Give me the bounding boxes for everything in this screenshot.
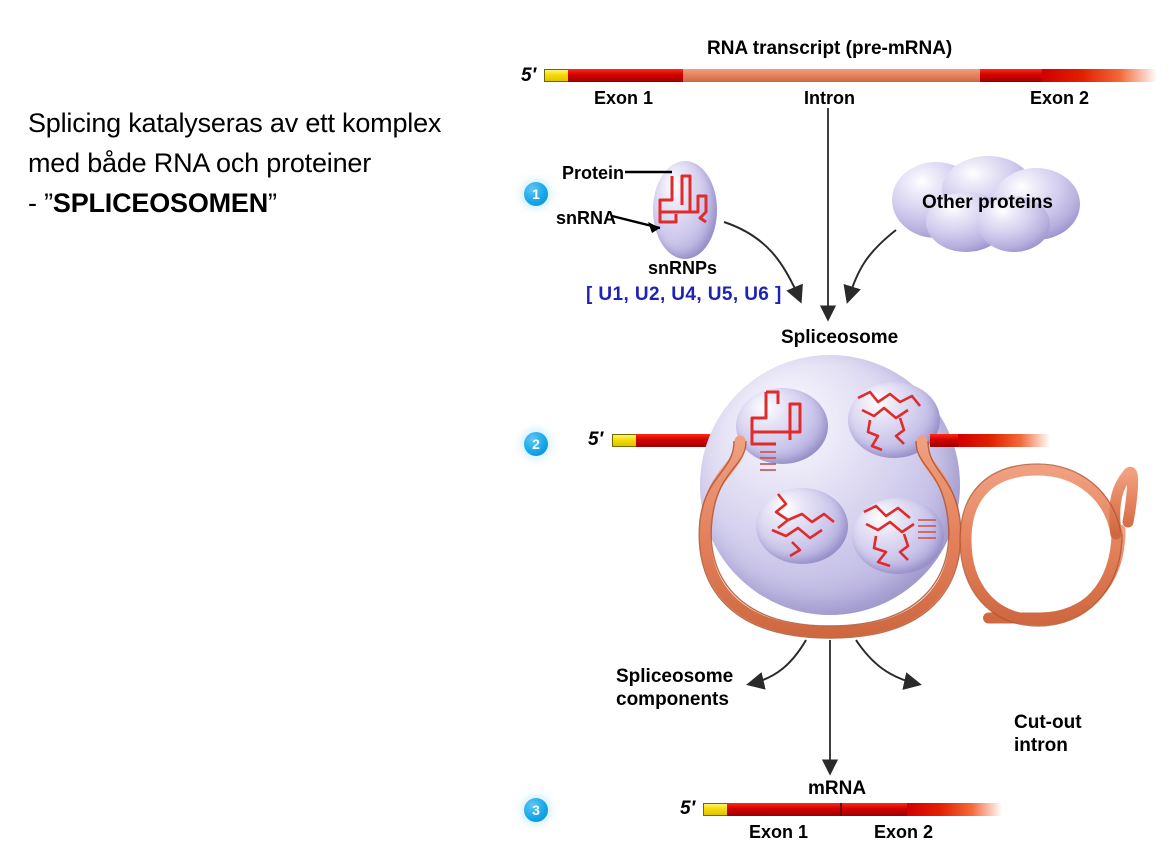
five-prime-label-top: 5′	[521, 65, 536, 87]
five-prime-cap-top	[544, 69, 570, 82]
mrna-exon-bar-fade-step3	[907, 803, 1002, 816]
slide-text-line-3-bold: SPLICEOSOMEN	[53, 188, 268, 218]
exon2-bar-top	[980, 69, 1042, 82]
slide-body-text: Splicing katalyseras av ett komplex med …	[28, 103, 498, 223]
exon2-bar-fade-top	[1042, 69, 1157, 82]
mrna-label: mRNA	[808, 778, 866, 800]
slide-text-line-3-suffix: ”	[268, 188, 277, 218]
slide-text-line-2: med både RNA och proteiner	[28, 143, 498, 183]
exon1-bar-top	[568, 69, 683, 82]
intron-bar-top	[683, 69, 980, 82]
mrna-exon-bar-step3	[727, 803, 907, 816]
exon-junction-mark	[840, 803, 842, 816]
cutout-intron-outline	[960, 464, 1122, 626]
slide-canvas: Splicing katalyseras av ett komplex med …	[0, 0, 1174, 868]
pre-mrna-title: RNA transcript (pre-mRNA)	[707, 38, 952, 60]
step-3-badge: 3	[524, 798, 548, 822]
exon2-bar-step2	[930, 434, 958, 447]
snrnps-label: snRNPs	[648, 258, 717, 279]
arrow-to-spliceosome-components	[750, 640, 806, 684]
step-2-badge: 2	[524, 432, 548, 456]
spliceosome-label: Spliceosome	[781, 327, 898, 349]
exon1-label-step3: Exon 1	[749, 822, 808, 843]
step-1-badge: 1	[524, 182, 548, 206]
snrna-label: snRNA	[556, 208, 616, 229]
exon2-label-top: Exon 2	[1030, 88, 1089, 109]
snrnp-particle	[653, 161, 717, 259]
spliceosome-snrnp-2	[848, 382, 940, 458]
cutout-intron-lariat	[966, 470, 1133, 620]
exon2-label-step3: Exon 2	[874, 822, 933, 843]
slide-text-line-1: Splicing katalyseras av ett komplex	[28, 103, 498, 143]
exon2-bar-fade-step2	[958, 434, 1050, 447]
cutout-intron-label-line1: Cut-out	[1014, 712, 1082, 734]
snrnp-u-list: [ U1, U2, U4, U5, U6 ]	[586, 284, 782, 306]
five-prime-label-step2: 5′	[588, 429, 603, 451]
spliceosome-components-label-line1: Spliceosome	[616, 666, 733, 688]
five-prime-label-step3: 5′	[680, 798, 695, 820]
exon1-label-top: Exon 1	[594, 88, 653, 109]
intron-label-top: Intron	[804, 88, 855, 109]
other-proteins-label: Other proteins	[922, 192, 1053, 214]
protein-label: Protein	[562, 163, 624, 184]
five-prime-cap-step2	[612, 434, 638, 447]
slide-text-line-3-prefix: - ”	[28, 188, 53, 218]
five-prime-cap-step3	[703, 803, 729, 816]
arrow-to-cutout-intron	[856, 640, 918, 684]
cutout-intron-label-line2: intron	[1014, 735, 1068, 757]
spliceosome-components-label-line2: components	[616, 689, 729, 711]
spliceosome-snrnp-1	[736, 388, 828, 464]
spliceosome-snrnp-3	[756, 488, 848, 564]
slide-text-line-3: - ”SPLICEOSOMEN”	[28, 183, 498, 223]
spliceosome-snrnp-4	[852, 498, 944, 574]
